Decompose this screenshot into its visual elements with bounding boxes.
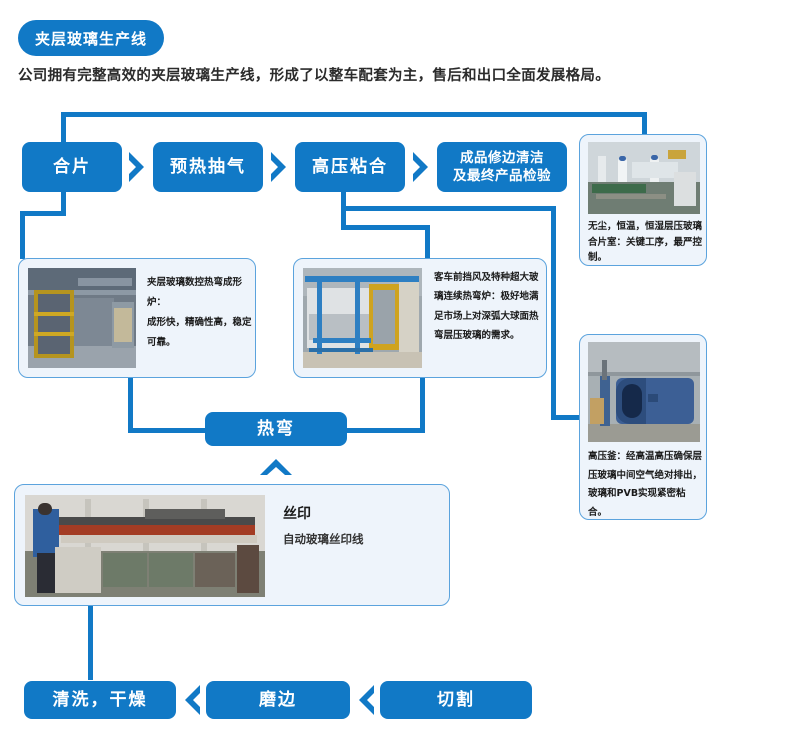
page-title-badge: 夹层玻璃生产线 — [18, 20, 164, 56]
card-silkscreen-subtitle: 自动玻璃丝印线 — [283, 531, 364, 547]
card-continuous-furnace-caption-line-2: 璃连续热弯炉：极好地满 — [434, 287, 542, 306]
card-autoclave-caption: 高压釜：经高温高压确保层 压玻璃中间空气绝对排出， 玻璃和PVB实现紧密粘合。 — [588, 448, 704, 522]
connector-top-rail — [61, 112, 647, 117]
connector-bendcard-down — [128, 378, 133, 430]
process-box-cutting-label: 切割 — [437, 689, 475, 712]
card-bend-furnace-photo — [28, 268, 136, 368]
card-silkscreen: 丝印 自动玻璃丝印线 — [14, 484, 450, 606]
card-cleanroom-photo — [588, 142, 700, 214]
card-cleanroom-caption: 无尘，恒温，恒湿层压玻璃 合片室：关键工序，最严控 制。 — [588, 219, 702, 266]
card-bend-furnace-caption-line-1: 夹层玻璃数控热弯成形炉： — [147, 273, 253, 313]
connector-gaoya-rail-down — [425, 225, 430, 259]
connector-autoclave-in — [551, 415, 579, 420]
connector-top-rail-down-to-cleanroom — [642, 112, 647, 134]
process-box-yure[interactable]: 预热抽气 — [153, 142, 263, 192]
process-box-wash-dry[interactable]: 清洗，干燥 — [24, 681, 176, 719]
chevron-right-icon-3 — [410, 150, 432, 184]
page-title-label: 夹层玻璃生产线 — [35, 28, 147, 49]
connector-autoclave-rail-top — [341, 206, 556, 211]
process-box-inspection-label-line2: 及最终产品检验 — [453, 167, 551, 185]
process-box-gaoya[interactable]: 高压粘合 — [295, 142, 405, 192]
connector-to-hotbend-right — [345, 428, 425, 433]
connector-contcard-down — [420, 378, 425, 430]
process-box-hotbend[interactable]: 热弯 — [205, 412, 347, 446]
card-autoclave-photo — [588, 342, 700, 442]
process-box-gaoya-label: 高压粘合 — [312, 156, 388, 179]
connector-autoclave-down — [551, 206, 556, 417]
process-box-edging-label: 磨边 — [259, 689, 297, 712]
connector-wash-up-to-silk — [88, 606, 93, 680]
card-continuous-furnace-photo — [303, 268, 422, 368]
chevron-left-icon-1 — [176, 683, 206, 721]
card-autoclave-caption-line-1: 高压釜：经高温高压确保层 — [588, 448, 704, 467]
card-cleanroom: 无尘，恒温，恒湿层压玻璃 合片室：关键工序，最严控 制。 — [579, 134, 707, 266]
process-box-inspection[interactable]: 成品修边清洁 及最终产品检验 — [437, 142, 567, 192]
card-bend-furnace: 夹层玻璃数控热弯成形炉： 成形快，精确性高，稳定 可靠。 — [18, 258, 256, 378]
card-bend-furnace-caption-line-3: 可靠。 — [147, 333, 253, 353]
card-autoclave: 高压釜：经高温高压确保层 压玻璃中间空气绝对排出， 玻璃和PVB实现紧密粘合。 — [579, 334, 707, 520]
card-bend-furnace-caption: 夹层玻璃数控热弯成形炉： 成形快，精确性高，稳定 可靠。 — [147, 273, 253, 353]
process-box-inspection-label-line1: 成品修边清洁 — [460, 149, 544, 167]
intro-paragraph: 公司拥有完整高效的夹层玻璃生产线，形成了以整车配套为主，售后和出口全面发展格局。 — [18, 64, 758, 85]
card-bend-furnace-caption-line-2: 成形快，精确性高，稳定 — [147, 313, 253, 333]
card-continuous-furnace-caption-line-3: 足市场上对深弧大球面热 — [434, 307, 542, 326]
process-box-hepian-label: 合片 — [53, 156, 91, 179]
card-silkscreen-photo — [25, 495, 265, 597]
card-autoclave-caption-line-3: 玻璃和PVB实现紧密粘合。 — [588, 485, 704, 522]
card-autoclave-caption-line-2: 压玻璃中间空气绝对排出， — [588, 467, 704, 486]
process-box-wash-dry-label: 清洗，干燥 — [53, 689, 148, 712]
process-box-hepian[interactable]: 合片 — [22, 142, 122, 192]
chevron-left-icon-2 — [350, 683, 380, 721]
chevron-up-icon — [258, 456, 294, 484]
connector-to-hotbend-left — [128, 428, 208, 433]
card-cleanroom-caption-line-2: 合片室：关键工序，最严控 — [588, 235, 702, 251]
card-continuous-furnace-caption: 客车前挡风及特种超大玻 璃连续热弯炉：极好地满 足市场上对深弧大球面热 弯层压玻… — [434, 268, 542, 346]
chevron-right-icon-1 — [126, 150, 148, 184]
connector-left-rail — [20, 211, 66, 216]
card-silkscreen-title: 丝印 — [283, 503, 364, 523]
card-continuous-furnace-caption-line-1: 客车前挡风及特种超大玻 — [434, 268, 542, 287]
card-cleanroom-caption-line-1: 无尘，恒温，恒湿层压玻璃 — [588, 219, 702, 235]
chevron-right-icon-2 — [268, 150, 290, 184]
process-box-cutting[interactable]: 切割 — [380, 681, 532, 719]
card-continuous-furnace-caption-line-4: 弯层压玻璃的需求。 — [434, 326, 542, 345]
process-box-edging[interactable]: 磨边 — [206, 681, 350, 719]
process-box-yure-label: 预热抽气 — [170, 156, 246, 179]
process-box-hotbend-label: 热弯 — [257, 418, 295, 441]
card-continuous-furnace: 客车前挡风及特种超大玻 璃连续热弯炉：极好地满 足市场上对深弧大球面热 弯层压玻… — [293, 258, 547, 378]
card-cleanroom-caption-line-3: 制。 — [588, 250, 702, 266]
connector-gaoya-rail — [341, 225, 430, 230]
connector-left-rail-down — [20, 211, 25, 259]
